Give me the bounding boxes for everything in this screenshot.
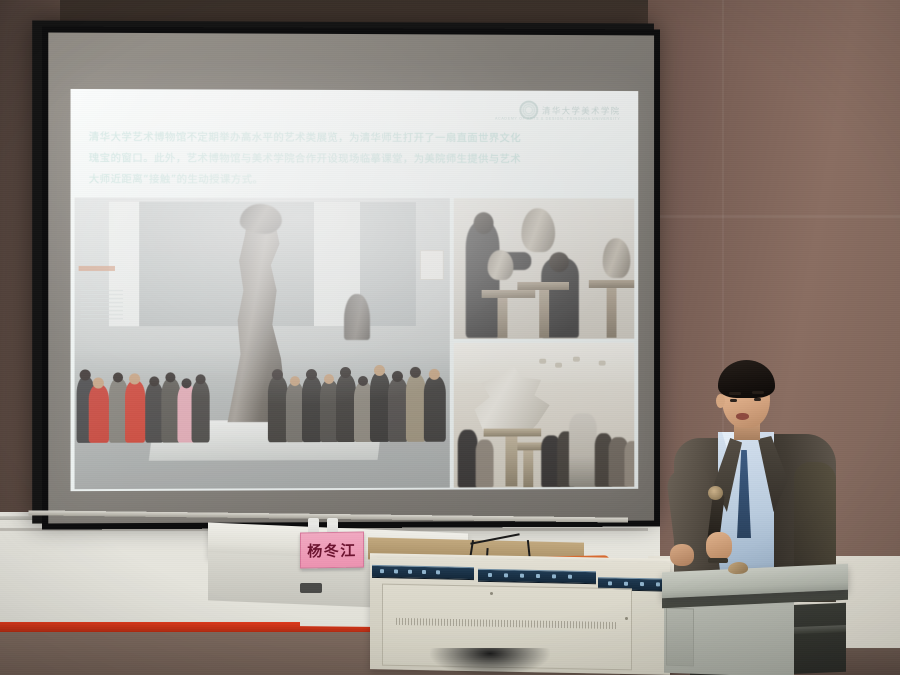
brow-right [752,391,764,394]
presentation-slide: 清华大学美术学院 ACADEMY OF ARTS & DESIGN, TSING… [71,89,639,491]
hall-lecturer [569,413,597,487]
bottle-cap-2 [327,518,338,523]
speaker-nameplate: 杨冬江 [300,531,364,568]
right-wall-seam [648,215,900,218]
cable-bundle [430,648,550,675]
slide-body-text: 清华大学艺术博物馆不定期举办高水平的艺术类展览，为清华师生打开了一扇直面世界文化… [89,127,615,191]
console-screw-1 [490,592,493,595]
slide-line-1: 清华大学艺术博物馆不定期举办高水平的艺术类展览，为清华师生打开了一扇直面世界文化 [89,127,615,149]
projection-screen: 清华大学美术学院 ACADEMY OF ARTS & DESIGN, TSING… [42,26,660,529]
hand-gesturing [670,544,694,566]
console-panel-mid[interactable] [478,569,596,584]
institution-logo-label: 清华大学美术学院 [542,104,620,116]
sculpture-head [240,204,282,234]
framed-artwork [420,250,444,280]
photo-exhibition-lecture [454,343,635,488]
wristwatch [708,558,728,563]
photo-sculpture-class [454,198,635,339]
eye-left [730,399,737,402]
slide-line-2: 瑰宝的窗口。此外，艺术博物馆与美术学院合作开设现场临摹课堂，为美院师生提供与艺术 [89,148,615,170]
hair [718,360,775,398]
ear [716,394,725,408]
gallery-wall-caption [81,290,123,320]
small-wooden-object[interactable] [728,562,748,575]
nameplate-text: 杨冬江 [307,539,357,561]
console-screw-2 [625,617,628,620]
gallery-wall-title [79,266,115,271]
eye-right [754,398,761,401]
console-panel-left[interactable] [372,565,474,580]
microphone-head-icon [708,486,723,500]
gallery-visitors [75,326,450,443]
screenshot-root: 清华大学美术学院 ACADEMY OF ARTS & DESIGN, TSING… [0,0,900,675]
bottle-cap-1 [308,518,319,523]
hand-holding-microphone [706,532,732,560]
brow-left [729,392,741,395]
photo-museum-gallery [75,198,450,490]
projection-surface: 清华大学美术学院 ACADEMY OF ARTS & DESIGN, TSING… [48,33,654,524]
institution-logo-subline: ACADEMY OF ARTS & DESIGN, TSINGHUA UNIVE… [495,116,620,120]
desk-handle [300,583,322,593]
podium-side-panel [666,608,694,667]
mouth [736,413,749,420]
slide-photo-collage [75,198,635,490]
slide-line-3: 大师近距离“接触”的生动授课方式。 [89,169,615,191]
